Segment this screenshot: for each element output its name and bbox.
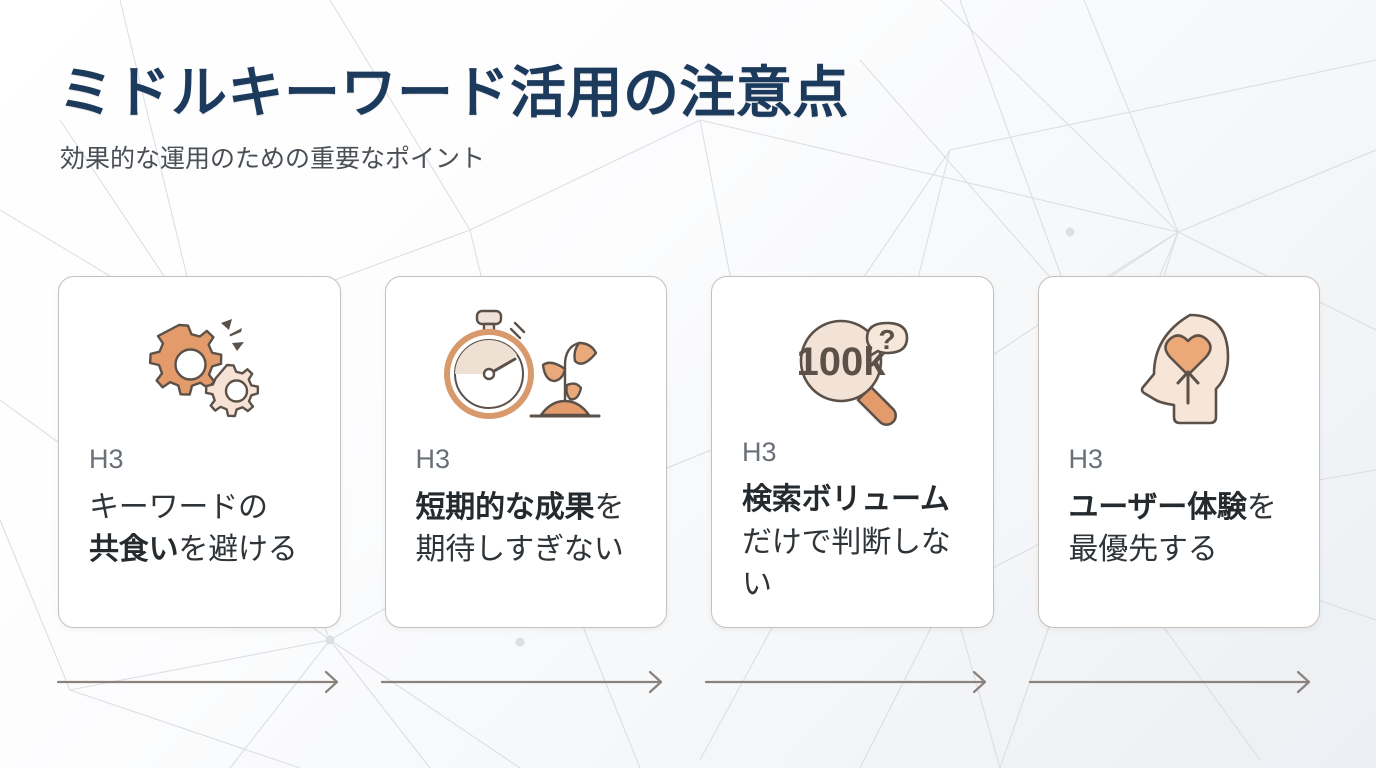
card-text: ユーザー体験を最優先する xyxy=(1069,487,1296,572)
page-subtitle: 効果的な運用のための重要なポイント xyxy=(60,143,1058,176)
card-text-bold: 共食い xyxy=(89,533,178,566)
connector-arrow-1 xyxy=(58,672,337,692)
connector-arrow-2 xyxy=(382,672,661,692)
question-mark-text: ? xyxy=(879,324,896,355)
card-text-rest: を避ける xyxy=(178,533,297,566)
magnifier-value-text: 100k xyxy=(797,340,887,384)
card-kicker: H3 xyxy=(416,445,643,475)
magnifier-100k-question-icon: 100k ? xyxy=(742,303,969,428)
card-text-line1: キーワードの xyxy=(89,491,268,524)
gears-icon xyxy=(89,303,316,435)
connector-arrow-3 xyxy=(706,672,985,692)
page-title: ミドルキーワード活用の注意点 xyxy=(58,62,1058,125)
card-text-line2: だけで判断しない xyxy=(742,526,951,602)
slide-canvas: ミドルキーワード活用の注意点 効果的な運用のための重要なポイント xyxy=(0,0,1376,768)
head-heart-arrow-icon xyxy=(1069,303,1296,435)
card-text-rest: を xyxy=(1247,491,1277,524)
card-kicker: H3 xyxy=(89,445,316,475)
connector-arrow-4 xyxy=(1030,672,1309,692)
card-text-bold: 検索ボリューム xyxy=(742,483,950,516)
card-text: キーワードの共食いを避ける xyxy=(89,487,316,572)
card-short-term-results[interactable]: H3 短期的な成果を期待しすぎない xyxy=(385,276,668,628)
card-text: 短期的な成果を期待しすぎない xyxy=(416,487,643,572)
card-text-rest: を xyxy=(594,491,624,524)
card-search-volume[interactable]: 100k ? H3 検索ボリュームだけで判断しない xyxy=(711,276,994,628)
card-text-bold: ユーザー体験 xyxy=(1069,491,1247,524)
card-keyword-cannibalization[interactable]: H3 キーワードの共食いを避ける xyxy=(58,276,341,628)
card-text: 検索ボリュームだけで判断しない xyxy=(742,479,969,607)
card-text-bold: 短期的な成果 xyxy=(416,491,595,524)
stopwatch-wilting-plant-icon xyxy=(416,303,643,435)
card-kicker: H3 xyxy=(1069,445,1296,475)
card-user-experience[interactable]: H3 ユーザー体験を最優先する xyxy=(1038,276,1321,628)
card-text-line2: 期待しすぎない xyxy=(416,533,624,566)
card-text-line2: 最優先する xyxy=(1069,533,1218,566)
slide-header: ミドルキーワード活用の注意点 効果的な運用のための重要なポイント xyxy=(58,62,1058,175)
card-list: H3 キーワードの共食いを避ける xyxy=(58,276,1320,628)
card-kicker: H3 xyxy=(742,438,969,468)
